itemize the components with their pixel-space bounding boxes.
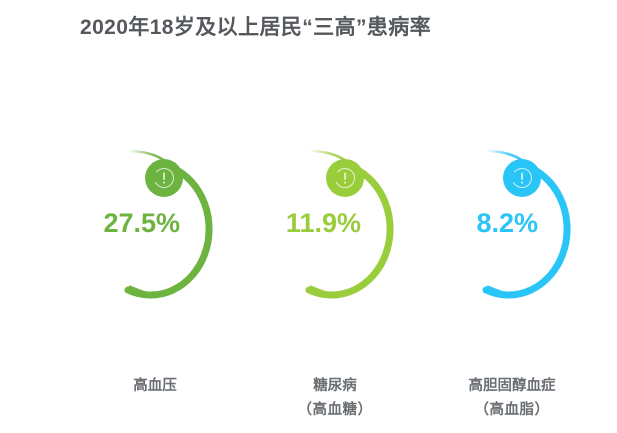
gauge-label-line2: （高血糖）: [235, 398, 435, 422]
gauge-label-line1: 糖尿病: [313, 378, 357, 394]
gauge-value-text: 27.5%: [62, 207, 180, 239]
gauge-label-diabetes: 糖尿病 （高血糖）: [235, 374, 435, 422]
gauge-label-hypercholesterolemia: 高胆固醇血症 （高血脂）: [412, 374, 612, 422]
gauge-label-row: 高血压 糖尿病 （高血糖） 高胆固醇血症 （高血脂）: [0, 374, 617, 433]
infographic-canvas: 2020年18岁及以上居民“三高”患病率: [0, 0, 617, 433]
gauge-label-hypertension: 高血压: [55, 374, 255, 398]
page-title: 2020年18岁及以上居民“三高”患病率: [80, 13, 431, 43]
gauge-item[interactable]: 11.9%: [243, 135, 423, 310]
gauge-item[interactable]: 8.2%: [420, 135, 600, 310]
gauge-label-line1: 高胆固醇血症: [469, 378, 556, 394]
gauge-label-line2: （高血脂）: [412, 398, 612, 422]
gauge-value-text: 11.9%: [243, 207, 361, 239]
gauge-label-line1: 高血压: [133, 378, 177, 394]
gauge-row: 27.5%: [0, 135, 617, 310]
gauge-item[interactable]: 27.5%: [62, 135, 242, 310]
gauge-value-text: 8.2%: [420, 207, 538, 239]
